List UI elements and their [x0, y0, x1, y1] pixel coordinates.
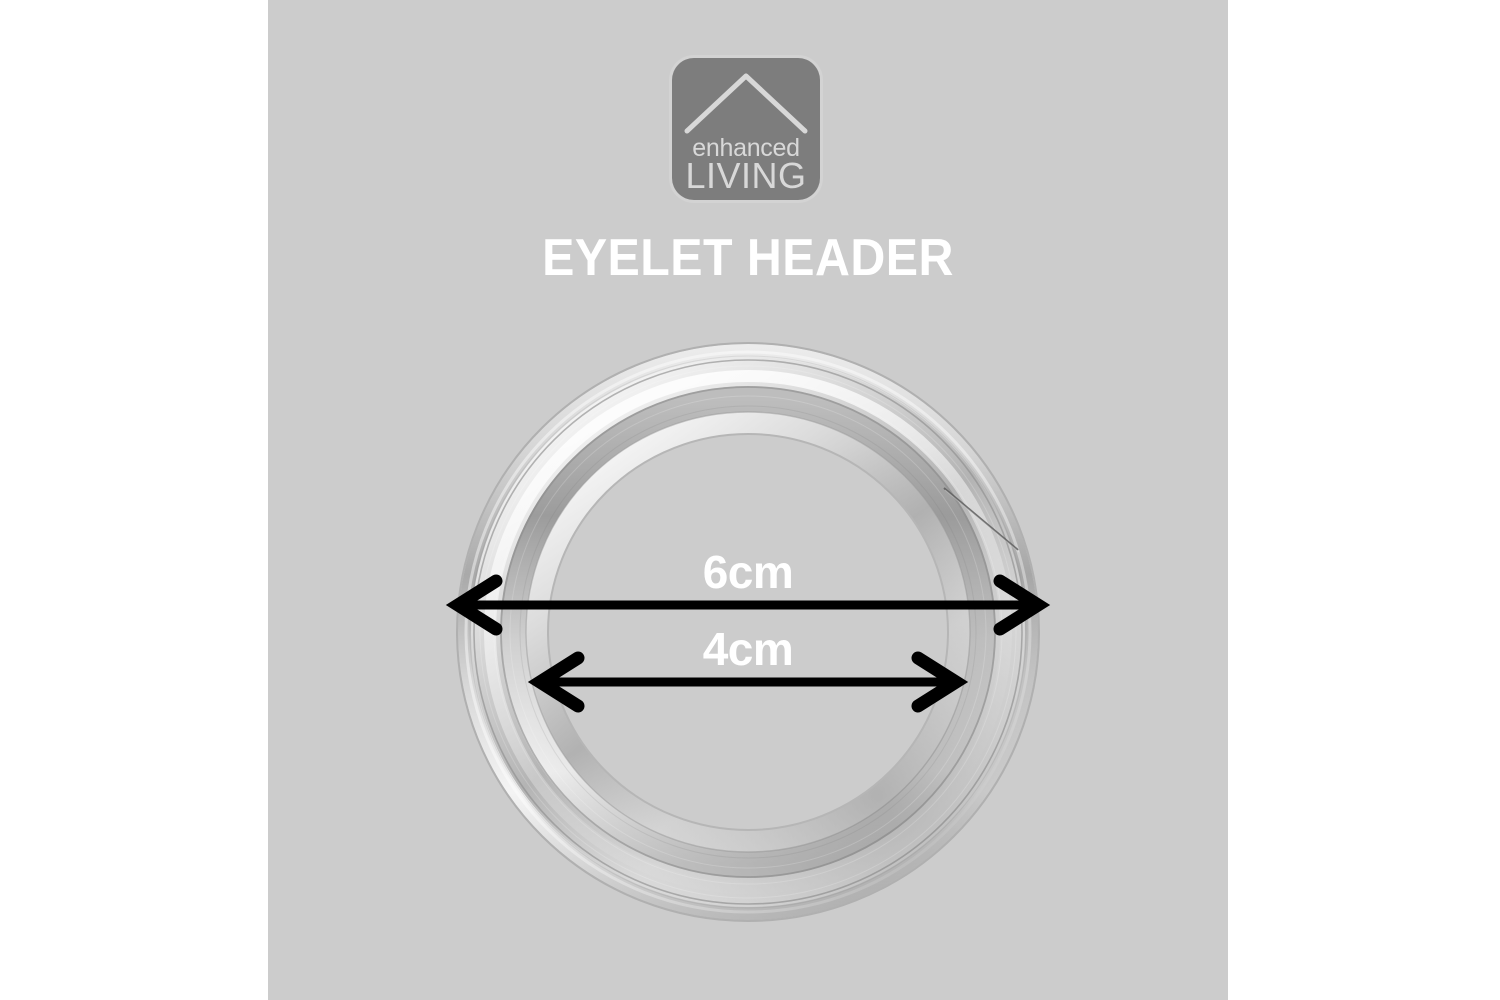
- house-roof-icon: [684, 72, 808, 134]
- outer-diameter-label: 6cm: [268, 545, 1228, 599]
- product-image-canvas: enhanced LIVING EYELET HEADER: [0, 0, 1500, 1000]
- inner-diameter-label: 4cm: [268, 622, 1228, 676]
- page-title: EYELET HEADER: [302, 228, 1195, 288]
- brand-name-line2: LIVING: [672, 158, 820, 194]
- brand-logo: enhanced LIVING: [672, 58, 820, 200]
